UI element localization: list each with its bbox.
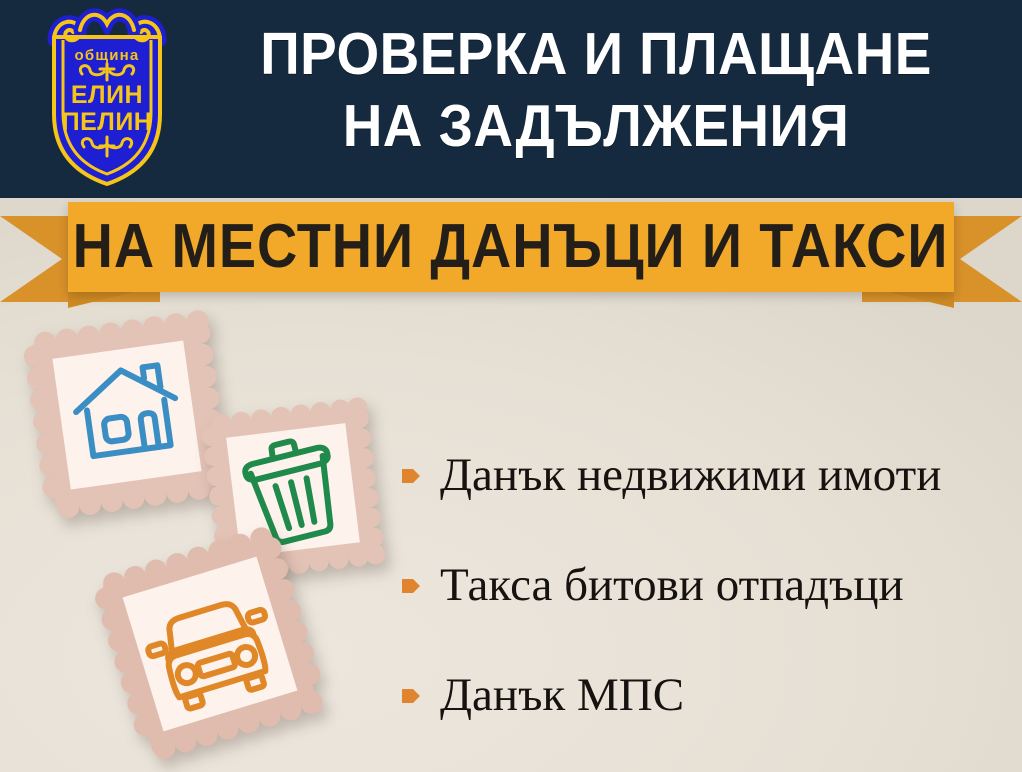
list-item[interactable]: Такса битови отпадъци — [400, 530, 1012, 640]
elin-pelin-municipality-coat-of-arms-logo: община ЕЛИН ПЕЛИН — [32, 6, 182, 191]
arrow-bullet-icon — [400, 575, 422, 597]
svg-text:ЕЛИН: ЕЛИН — [71, 81, 143, 109]
poster: община ЕЛИН ПЕЛИН ПРОВЕРКА И ПЛАЩАНЕ Н — [0, 0, 1022, 772]
list-item-label: Такса битови отпадъци — [440, 559, 904, 611]
arrow-bullet-icon — [400, 685, 422, 707]
page-title: ПРОВЕРКА И ПЛАЩАНЕ НА ЗАДЪЛЖЕНИЯ — [215, 18, 978, 162]
svg-text:ПЕЛИН: ПЕЛИН — [62, 108, 153, 136]
arrow-bullet-icon — [400, 465, 422, 487]
subtitle-ribbon: НА МЕСТНИ ДАНЪЦИ И ТАКСИ — [0, 198, 1022, 303]
list-item[interactable]: Данък МПС — [400, 640, 1012, 750]
list-item-label: Данък МПС — [440, 669, 684, 721]
ribbon-label: НА МЕСТНИ ДАНЪЦИ И ТАКСИ — [73, 216, 949, 278]
poster-header: община ЕЛИН ПЕЛИН ПРОВЕРКА И ПЛАЩАНЕ Н — [0, 0, 1022, 198]
svg-text:община: община — [75, 47, 140, 64]
tax-types-list: Данък недвижими имоти Такса битови отпад… — [400, 420, 1012, 750]
stamp-card-car — [92, 526, 328, 762]
list-item[interactable]: Данък недвижими имоти — [400, 420, 1012, 530]
stamp-collage — [0, 290, 420, 772]
list-item-label: Данък недвижими имоти — [440, 449, 941, 501]
ribbon-banner: НА МЕСТНИ ДАНЪЦИ И ТАКСИ — [68, 202, 954, 292]
